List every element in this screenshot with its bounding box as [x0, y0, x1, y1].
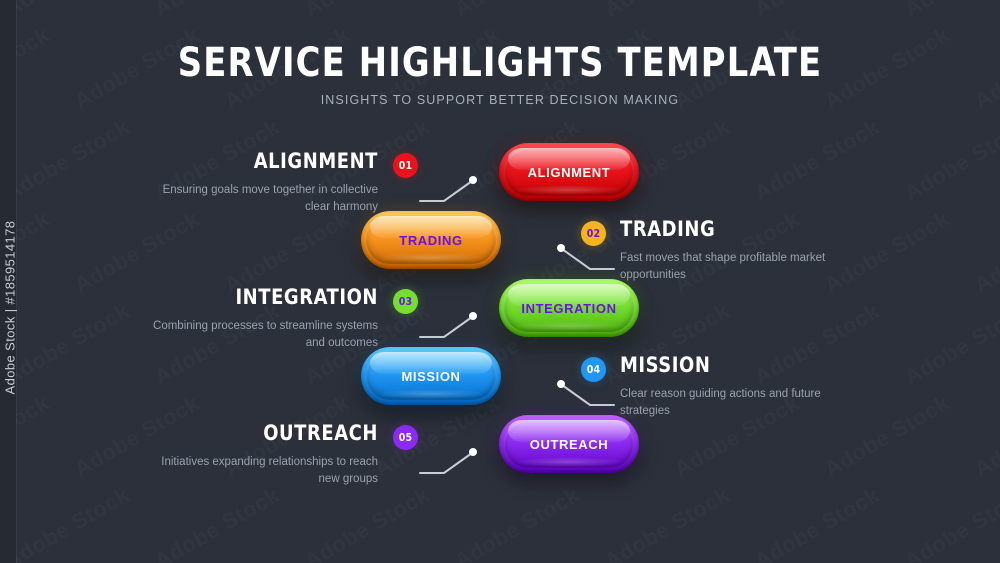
step-number-badge: 03: [393, 289, 418, 314]
row-description: Initiatives expanding relationships to r…: [148, 454, 378, 487]
connector-line: [418, 311, 486, 341]
pill-label: TRADING: [399, 233, 462, 248]
row-text-block: OUTREACHInitiatives expanding relationsh…: [148, 423, 378, 487]
header: SERVICE HIGHLIGHTS TEMPLATE INSIGHTS TO …: [0, 42, 1000, 107]
highlight-pill-button[interactable]: TRADING: [361, 211, 501, 269]
highlight-pill-button[interactable]: ALIGNMENT: [499, 143, 639, 201]
connector-line: [548, 379, 616, 409]
row-heading: OUTREACH: [160, 423, 379, 444]
row-text-block: TRADINGFast moves that shape profitable …: [620, 219, 850, 283]
step-number-badge: 01: [393, 153, 418, 178]
pill-bottom-glow: [513, 321, 625, 331]
pill-label: ALIGNMENT: [528, 165, 611, 180]
row-heading: TRADING: [620, 219, 839, 240]
pill-bottom-glow: [513, 457, 625, 467]
stock-rail-label: Adobe Stock | #1859514178: [3, 98, 18, 518]
highlight-pill-button[interactable]: INTEGRATION: [499, 279, 639, 337]
connector-line: [418, 447, 486, 477]
pill-bottom-glow: [375, 253, 487, 263]
row-heading: INTEGRATION: [160, 287, 379, 308]
pill-bottom-glow: [513, 185, 625, 195]
row-text-block: MISSIONClear reason guiding actions and …: [620, 355, 850, 419]
pill-label: OUTREACH: [530, 437, 608, 452]
pill-label: INTEGRATION: [521, 301, 616, 316]
pill-label: MISSION: [401, 369, 460, 384]
row-heading: MISSION: [620, 355, 839, 376]
connector-line: [418, 175, 486, 205]
row-text-block: INTEGRATIONCombining processes to stream…: [148, 287, 378, 351]
row-heading: ALIGNMENT: [160, 151, 379, 172]
highlight-pill-button[interactable]: OUTREACH: [499, 415, 639, 473]
pill-bottom-glow: [375, 389, 487, 399]
highlight-pill-button[interactable]: MISSION: [361, 347, 501, 405]
highlight-row: OUTREACHInitiatives expanding relationsh…: [0, 415, 1000, 503]
row-text-block: ALIGNMENTEnsuring goals move together in…: [148, 151, 378, 215]
page-subtitle: INSIGHTS TO SUPPORT BETTER DECISION MAKI…: [0, 93, 1000, 107]
page-title: SERVICE HIGHLIGHTS TEMPLATE: [30, 42, 970, 84]
step-number-badge: 05: [393, 425, 418, 450]
infographic-canvas: SERVICE HIGHLIGHTS TEMPLATE INSIGHTS TO …: [0, 0, 1000, 563]
connector-line: [548, 243, 616, 273]
